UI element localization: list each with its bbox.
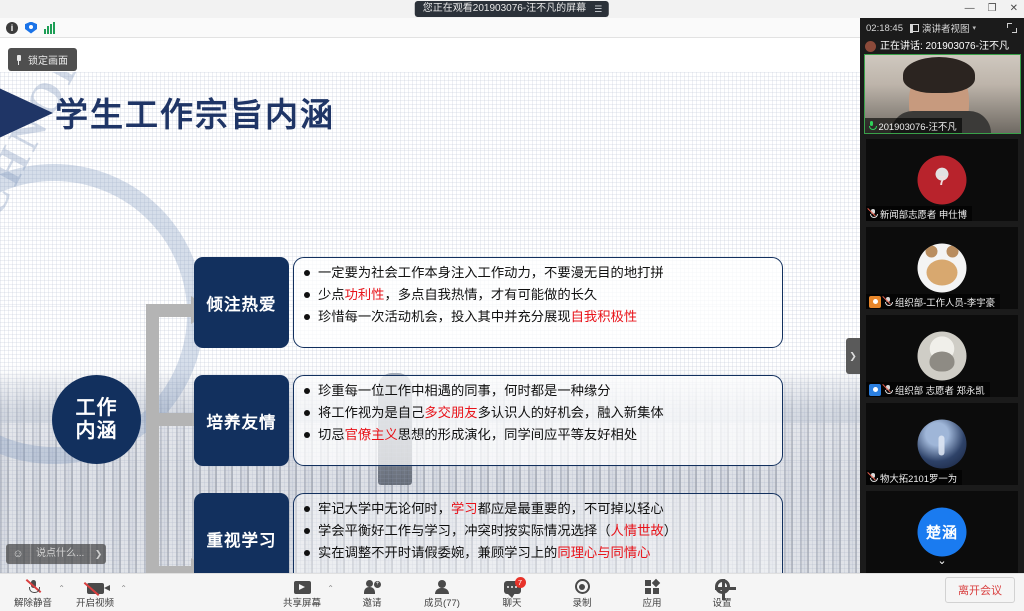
bullet-dot-icon (304, 270, 310, 276)
host-badge-icon (869, 296, 881, 308)
chevron-up-icon[interactable]: ⌃ (120, 584, 127, 593)
notice-menu-icon[interactable]: ☰ (594, 1, 603, 17)
settings-gear-icon (715, 576, 730, 594)
slide-bullet: 牢记大学中无论何时，学习都应是最重要的，不可掉以轻心 (304, 501, 772, 517)
microphone-muted-icon (29, 576, 38, 594)
speaker-avatar-icon (865, 41, 876, 52)
plain-text: 珍惜每一次活动机会，投入其中并充分展现 (318, 309, 571, 324)
highlighted-term: 人情世故 (611, 523, 664, 538)
bullet-dot-icon (304, 292, 310, 298)
participant-name: 201903076-汪不凡 (879, 119, 957, 133)
participant-name: 组织部-工作人员-李宇豪 (895, 295, 995, 309)
microphone-muted-icon (869, 473, 877, 482)
slide-row-label: 重视学习 (194, 493, 289, 573)
slide-content-box: 一定要为社会工作本身注入工作动力，不要漫无目的地打拼少点功利性，多点自我热情，才… (293, 257, 783, 348)
settings-button[interactable]: 设置 (699, 576, 745, 609)
chevron-down-icon[interactable]: ⌄ (937, 554, 946, 567)
send-icon[interactable]: ❯ (90, 544, 106, 564)
plain-text: 切忌 (318, 427, 345, 442)
toolbar-center-group: 共享屏幕 ⌃ + 邀请 成员(77) 7 聊天 录制 (279, 576, 745, 609)
slide-bullet-text: 牢记大学中无论何时，学习都应是最重要的，不可掉以轻心 (318, 501, 664, 517)
fullscreen-icon[interactable] (1007, 23, 1017, 33)
plain-text: 多认识人的好机会，融入新集体 (478, 405, 664, 420)
record-button[interactable]: 录制 (559, 576, 605, 609)
video-tile[interactable]: 物大拓2101罗一为 (866, 403, 1018, 485)
invite-icon: + (364, 576, 380, 594)
plain-text: 牢记大学中无论何时， (318, 501, 451, 516)
highlighted-term: 自我积极性 (571, 309, 637, 324)
highlighted-term: 功利性 (345, 287, 385, 302)
plain-text: ） (664, 523, 677, 538)
participants-button[interactable]: 成员(77) (419, 576, 465, 609)
share-screen-button[interactable]: 共享屏幕 ⌃ (279, 576, 325, 609)
slide-bullet-text: 少点功利性，多点自我热情，才有可能做的长久 (318, 287, 597, 303)
slide-bullet-text: 将工作视为是自己多交朋友多认识人的好机会，融入新集体 (318, 405, 664, 421)
participants-icon (434, 576, 450, 594)
close-button[interactable]: ✕ (1010, 4, 1018, 14)
window-controls: — ❐ ✕ (965, 0, 1018, 18)
connector-arrow-top (146, 304, 192, 317)
highlighted-term: 官僚主义 (345, 427, 398, 442)
presentation-slide: TECHNOLOGY 学生工作宗旨内涵 工作 内涵 倾注热爱 培养友情 重视学习… (0, 72, 860, 573)
meeting-timer: 02:18:45 (866, 23, 903, 34)
view-mode-label: 演讲者视图 (922, 21, 970, 35)
maximize-button[interactable]: ❐ (988, 4, 997, 14)
slide-hub-circle: 工作 内涵 (52, 375, 141, 464)
microphone-muted-icon (884, 297, 892, 306)
record-label: 录制 (572, 595, 591, 609)
plain-text: 少点 (318, 287, 345, 302)
bullet-dot-icon (304, 528, 310, 534)
video-tile[interactable]: 新闻部志愿者 申仕博 (866, 139, 1018, 221)
slide-bullet: 将工作视为是自己多交朋友多认识人的好机会，融入新集体 (304, 405, 772, 421)
avatar (918, 244, 967, 293)
chat-button[interactable]: 7 聊天 (489, 576, 535, 609)
slide-bullet: 珍惜每一次活动机会，投入其中并充分展现自我积极性 (304, 309, 772, 325)
plain-text: 将工作视为是自己 (318, 405, 424, 420)
chevron-up-icon[interactable]: ⌃ (327, 584, 334, 593)
bullet-dot-icon (304, 314, 310, 320)
window-title-bar: 您正在观看201903076-汪不凡的屏幕 ☰ — ❐ ✕ (0, 0, 1024, 18)
bullet-dot-icon (304, 432, 310, 438)
meeting-window: 您正在观看201903076-汪不凡的屏幕 ☰ — ❐ ✕ i 02:18:45… (0, 0, 1024, 611)
apps-icon (645, 576, 660, 594)
toolbar-left-group: 解除静音 ⌃ 开启视频 ⌃ (10, 576, 118, 609)
plain-text: 珍重每一位工作中相遇的同事，何时都是一种缘分 (318, 383, 611, 398)
highlighted-term: 学习 (451, 501, 478, 516)
slide-bullet-text: 珍惜每一次活动机会，投入其中并充分展现自我积极性 (318, 309, 637, 325)
slide-bullet: 实在调整不开时请假委婉，兼顾学习上的同理心与同情心 (304, 545, 772, 561)
plain-text: 思想的形成演化，同学间应平等友好相处 (398, 427, 637, 442)
leave-meeting-button[interactable]: 离开会议 (945, 577, 1015, 603)
plain-text: 一定要为社会工作本身注入工作动力，不要漫无目的地打拼 (318, 265, 664, 280)
panel-collapse-handle[interactable]: ❯ (846, 338, 860, 374)
start-video-label: 开启视频 (76, 595, 114, 609)
invite-button[interactable]: + 邀请 (349, 576, 395, 609)
video-tile-name-bar: 物大拓2101罗一为 (866, 470, 962, 485)
slide-bullet-text: 一定要为社会工作本身注入工作动力，不要漫无目的地打拼 (318, 265, 664, 281)
video-tile[interactable]: 组织部-工作人员-李宇豪 (866, 227, 1018, 309)
slide-title-arrow-icon (0, 82, 53, 144)
avatar (918, 156, 967, 205)
video-tile[interactable]: 201903076-汪不凡 (865, 55, 1020, 133)
shield-icon[interactable] (25, 22, 37, 34)
screen-share-notice: 您正在观看201903076-汪不凡的屏幕 ☰ (415, 1, 609, 17)
pin-icon (14, 55, 23, 65)
bullet-dot-icon (304, 506, 310, 512)
slide-content-box: 珍重每一位工作中相遇的同事，何时都是一种缘分将工作视为是自己多交朋友多认识人的好… (293, 375, 783, 466)
video-thumbnail-panel: 正在讲话: 201903076-汪不凡 201903076-汪不凡 新闻部志愿者… (860, 38, 1024, 573)
participants-label: 成员(77) (424, 595, 460, 609)
slide-row-label: 培养友情 (194, 375, 289, 466)
avatar (918, 420, 967, 469)
slide-bullet: 学会平衡好工作与学习，冲突时按实际情况选择（人情世故） (304, 523, 772, 539)
participant-name: 物大拓2101罗一为 (880, 471, 957, 485)
unmute-label: 解除静音 (14, 595, 52, 609)
meeting-toolbar: 解除静音 ⌃ 开启视频 ⌃ 共享屏幕 ⌃ + 邀请 (0, 573, 1024, 611)
lock-screen-label: 锁定画面 (28, 52, 68, 67)
video-tile[interactable]: 组织部 志愿者 郑永凯 (866, 315, 1018, 397)
info-icon[interactable]: i (6, 22, 18, 34)
slide-bullet: 少点功利性，多点自我热情，才有可能做的长久 (304, 287, 772, 303)
slide-title: 学生工作宗旨内涵 (55, 88, 335, 136)
active-speaker-banner: 正在讲话: 201903076-汪不凡 (860, 38, 1024, 55)
cohost-badge-icon (869, 384, 881, 396)
connector-arrow-bottom (146, 566, 192, 573)
view-mode-switch[interactable]: 演讲者视图 ▾ (910, 21, 976, 35)
slide-bullet: 切忌官僚主义思想的形成演化，同学间应平等友好相处 (304, 427, 772, 443)
hub-line-1: 工作 (76, 397, 118, 419)
signal-bars-icon[interactable] (44, 22, 56, 34)
highlighted-term: 同理心与同情心 (557, 545, 650, 560)
participant-name: 新闻部志愿者 申仕博 (880, 207, 967, 221)
slide-bullet-text: 切忌官僚主义思想的形成演化，同学间应平等友好相处 (318, 427, 637, 443)
slide-row-label: 倾注热爱 (194, 257, 289, 348)
slide-bullet-text: 珍重每一位工作中相遇的同事，何时都是一种缘分 (318, 383, 611, 399)
bullet-dot-icon (304, 410, 310, 416)
bullet-dot-icon (304, 550, 310, 556)
participant-name: 组织部 志愿者 郑永凯 (895, 383, 985, 397)
camera-off-icon (87, 576, 104, 594)
slide-content-box: 牢记大学中无论何时，学习都应是最重要的，不可掉以轻心学会平衡好工作与学习，冲突时… (293, 493, 783, 573)
slide-bullet-text: 实在调整不开时请假委婉，兼顾学习上的同理心与同情心 (318, 545, 650, 561)
active-speaker-text: 正在讲话: 201903076-汪不凡 (880, 38, 1009, 55)
microphone-muted-icon (884, 385, 892, 394)
start-video-button[interactable]: 开启视频 ⌃ (72, 576, 118, 609)
apps-label: 应用 (642, 595, 661, 609)
microphone-muted-icon (869, 209, 877, 218)
slide-chat-input[interactable]: 说点什么... (30, 544, 90, 564)
slide-bullet: 珍重每一位工作中相遇的同事，何时都是一种缘分 (304, 383, 772, 399)
hub-line-2: 内涵 (76, 420, 118, 442)
chat-unread-badge: 7 (515, 577, 526, 588)
chevron-down-icon: ▾ (973, 24, 977, 32)
record-icon (575, 576, 590, 594)
invite-label: 邀请 (362, 595, 381, 609)
connector-vertical (146, 304, 159, 573)
status-icon-group: i (0, 22, 56, 34)
bullet-dot-icon (304, 388, 310, 394)
video-tile-name-bar: 201903076-汪不凡 (865, 118, 962, 133)
unmute-button[interactable]: 解除静音 ⌃ (10, 576, 56, 609)
plain-text: 都应是最重要的，不可掉以轻心 (478, 501, 664, 516)
video-tile-name-bar: 新闻部志愿者 申仕博 (866, 206, 972, 221)
shared-screen-area: 锁定画面 TECHNOLOGY 学生工作宗旨内涵 工作 内涵 倾注热爱 培养友情… (0, 38, 860, 573)
video-tile[interactable]: 楚涵 ⌄ (866, 491, 1018, 573)
emoji-icon[interactable]: ☺ (6, 544, 30, 564)
slide-bullet: 一定要为社会工作本身注入工作动力，不要漫无目的地打拼 (304, 265, 772, 281)
plain-text: ，多点自我热情，才有可能做的长久 (384, 287, 597, 302)
plain-text: 实在调整不开时请假委婉，兼顾学习上的 (318, 545, 557, 560)
share-screen-label: 共享屏幕 (283, 595, 321, 609)
chat-icon: 7 (504, 576, 521, 594)
apps-button[interactable]: 应用 (629, 576, 675, 609)
microphone-icon (868, 121, 876, 130)
minimize-button[interactable]: — (965, 4, 975, 14)
highlighted-term: 多交朋友 (424, 405, 477, 420)
screen-share-notice-text: 您正在观看201903076-汪不凡的屏幕 (423, 1, 586, 17)
avatar (918, 332, 967, 381)
meeting-status-bar: 02:18:45 演讲者视图 ▾ (860, 18, 1024, 38)
speaker-view-icon (910, 24, 919, 32)
slide-bullet-text: 学会平衡好工作与学习，冲突时按实际情况选择（人情世故） (318, 523, 677, 539)
slide-chat-overlay[interactable]: ☺ 说点什么... ❯ (6, 544, 106, 564)
avatar: 楚涵 (918, 508, 967, 557)
video-tile-name-bar: 组织部 志愿者 郑永凯 (866, 382, 990, 397)
lock-screen-button[interactable]: 锁定画面 (8, 48, 77, 71)
share-screen-icon (294, 576, 311, 594)
chevron-up-icon[interactable]: ⌃ (58, 584, 65, 593)
video-tile-name-bar: 组织部-工作人员-李宇豪 (866, 294, 1000, 309)
plain-text: 学会平衡好工作与学习，冲突时按实际情况选择（ (318, 523, 611, 538)
